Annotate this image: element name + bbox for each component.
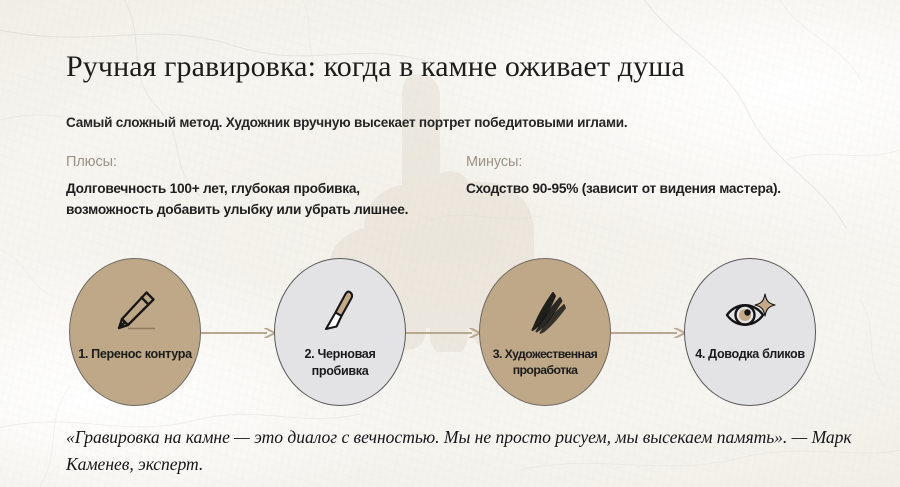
step-3-icon-wrap — [520, 281, 570, 341]
step-3-label: 3. Художественная проработка — [482, 346, 608, 379]
step-1-icon-wrap — [110, 281, 160, 341]
pros-column: Плюсы: Долговечность 100+ лет, глубокая … — [66, 154, 466, 220]
infographic-slide: Ручная гравировка: когда в камне оживает… — [0, 0, 900, 487]
pros-cons-columns: Плюсы: Долговечность 100+ лет, глубокая … — [66, 154, 866, 220]
step-1-label: 1. Перенос контура — [72, 346, 198, 363]
cons-body: Сходство 90-95% (зависит от видения маст… — [466, 179, 838, 200]
cons-column: Минусы: Сходство 90-95% (зависит от виде… — [466, 154, 866, 220]
step-4-highlight-finishing[interactable]: 4. Доводка бликов — [684, 258, 816, 406]
eye-sparkle-icon — [723, 286, 777, 336]
step-2-label: 2. Черновая пробивка — [277, 346, 403, 380]
step-2-rough-carving[interactable]: 2. Черновая пробивка — [274, 258, 406, 406]
chisel-icon — [315, 286, 365, 336]
pros-heading: Плюсы: — [66, 154, 466, 170]
needles-icon — [520, 286, 570, 336]
page-title: Ручная гравировка: когда в камне оживает… — [66, 50, 856, 84]
arrow-3-to-4 — [611, 328, 687, 338]
expert-quote: «Гравировка на камне — это диалог с вечн… — [66, 424, 866, 477]
step-1-transfer-contour[interactable]: 1. Перенос контура — [69, 258, 201, 406]
slide-content: Ручная гравировка: когда в камне оживает… — [0, 0, 900, 487]
page-subtitle: Самый сложный метод. Художник вручную вы… — [66, 115, 820, 131]
step-3-artistic-work[interactable]: 3. Художественная проработка — [479, 258, 611, 406]
pros-body: Долговечность 100+ лет, глубокая пробивк… — [66, 179, 438, 220]
step-4-label: 4. Доводка бликов — [687, 346, 813, 363]
pencil-icon — [110, 286, 160, 336]
step-2-icon-wrap — [315, 281, 365, 341]
step-4-icon-wrap — [723, 281, 777, 341]
process-steps: 1. Перенос контура 2. Черновая пробивка — [0, 258, 900, 408]
arrow-1-to-2 — [201, 328, 277, 338]
cons-heading: Минусы: — [466, 154, 866, 170]
arrow-2-to-3 — [406, 328, 482, 338]
